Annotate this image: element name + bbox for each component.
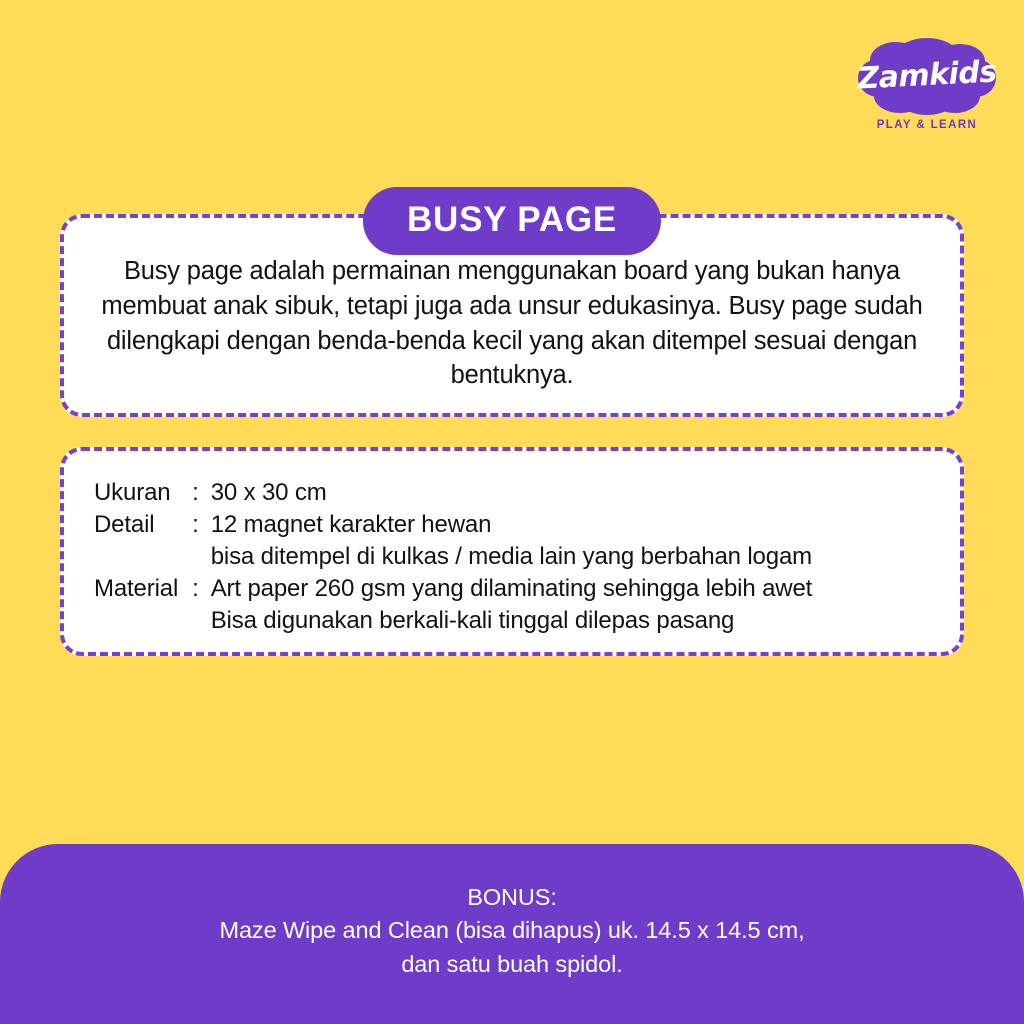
page-title: BUSY PAGE xyxy=(363,187,661,255)
brand-logo: Zamkids PLAY & LEARN xyxy=(852,34,1002,131)
table-row: Ukuran : 30 x 30 cm xyxy=(94,477,930,509)
description-text: Busy page adalah permainan menggunakan b… xyxy=(90,254,934,394)
specs-table: Ukuran : 30 x 30 cm Detail : 12 magnet k… xyxy=(94,477,930,637)
bonus-detail-line-1: Maze Wipe and Clean (bisa dihapus) uk. 1… xyxy=(219,914,804,947)
logo-tagline: PLAY & LEARN xyxy=(852,119,1002,131)
spec-label-detail: Detail xyxy=(94,509,192,573)
bonus-banner: BONUS: Maze Wipe and Clean (bisa dihapus… xyxy=(0,844,1024,1024)
specs-table-body: Ukuran : 30 x 30 cm Detail : 12 magnet k… xyxy=(94,477,930,637)
table-row: Material : Art paper 260 gsm yang dilami… xyxy=(94,573,930,637)
bonus-heading: BONUS: xyxy=(467,881,557,914)
table-row: Detail : 12 magnet karakter hewan bisa d… xyxy=(94,509,930,573)
bonus-detail-line-2: dan satu buah spidol. xyxy=(401,948,622,981)
logo-cloud-shape: Zamkids xyxy=(852,34,1002,116)
logo-wordmark: Zamkids xyxy=(850,30,1004,120)
spec-label-material: Material xyxy=(94,573,192,637)
specs-card: Ukuran : 30 x 30 cm Detail : 12 magnet k… xyxy=(60,447,964,656)
spec-separator: : xyxy=(192,477,211,509)
spec-value-material: Art paper 260 gsm yang dilaminating sehi… xyxy=(211,573,930,637)
spec-separator: : xyxy=(192,509,211,573)
spec-value-ukuran: 30 x 30 cm xyxy=(211,477,930,509)
spec-label-ukuran: Ukuran xyxy=(94,477,192,509)
spec-value-detail: 12 magnet karakter hewan bisa ditempel d… xyxy=(211,509,930,573)
spec-separator: : xyxy=(192,573,211,637)
